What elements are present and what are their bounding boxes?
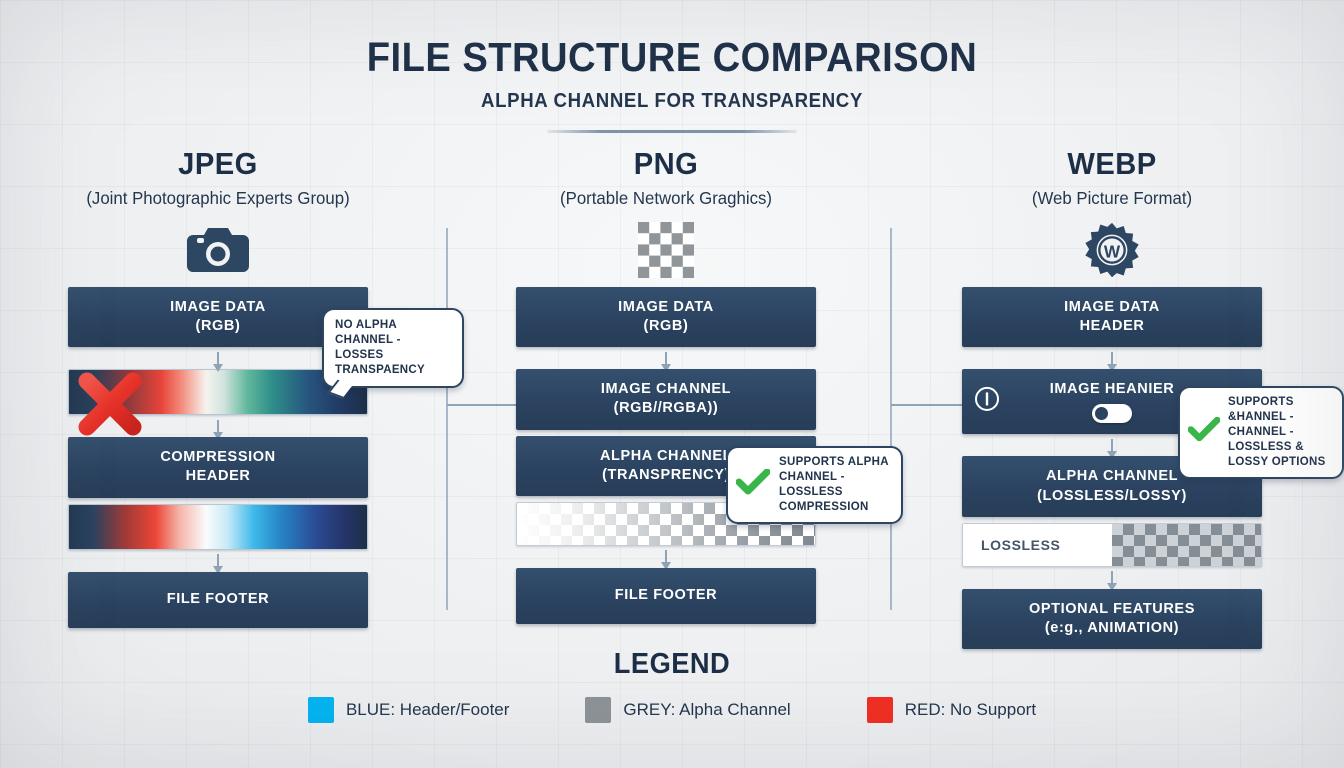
callout-line-1: SUPPORTS ALPHA	[779, 455, 891, 470]
column-title-png: PNG	[525, 146, 807, 182]
header: FILE STRUCTURE COMPARISON ALPHA CHANNEL …	[0, 34, 1344, 133]
callout-line-2: CHANNEL - LOSSLESS &	[1228, 425, 1334, 455]
callout-line-1: NO ALPHA CHANNEL -	[335, 318, 451, 348]
block-line2: (LOSSLESS/LOSSY)	[1037, 487, 1187, 506]
column-divider-png-webp	[890, 228, 892, 610]
title-divider-rule	[547, 130, 797, 133]
legend-label-grey: GREY: Alpha Channel	[623, 700, 790, 720]
block-line1: OPTIONAL FEATURES	[1029, 600, 1195, 619]
column-subtitle-png: (Portable Network Graghics)	[522, 188, 810, 209]
legend-item-grey: GREY: Alpha Channel	[585, 697, 790, 723]
callout-text: SUPPORTS ALPHA CHANNEL - LOSSLESS COMPRE…	[779, 455, 891, 515]
callout-line-3: LOSSY OPTIONS	[1228, 455, 1334, 470]
webp-lossless-label: LOSSLESS	[963, 524, 1112, 566]
legend-title: LEGEND	[40, 648, 1303, 681]
legend-swatch-blue	[308, 697, 334, 723]
legend-item-red: RED: No Support	[867, 697, 1036, 723]
block-line1: ALPHA CHANNEL	[600, 447, 732, 466]
block-webp-image-data-header: IMAGE DATA HEADER	[962, 287, 1262, 347]
toggle-switch[interactable]	[1092, 404, 1132, 423]
red-x-icon	[74, 368, 146, 440]
svg-text:W: W	[1104, 241, 1121, 261]
column-divider-jpeg-png	[446, 228, 448, 610]
callout-line-2: CHANNEL - LOSSLESS	[779, 470, 891, 500]
page-title: FILE STRUCTURE COMPARISON	[47, 34, 1297, 81]
block-png-file-footer: FILE FOOTER	[516, 568, 816, 624]
block-line1: IMAGE CHANNEL	[601, 380, 731, 399]
block-line2: (RGB//RGBA))	[614, 399, 719, 418]
callout-line-1: SUPPORTS &HANNEL -	[1228, 395, 1334, 425]
block-png-image-data: IMAGE DATA (RGB)	[516, 287, 816, 347]
webp-lossless-bar: LOSSLESS	[962, 523, 1262, 567]
block-line2: (TRANSPRENCY)	[602, 466, 730, 485]
legend: LEGEND BLUE: Header/Footer GREY: Alpha C…	[0, 648, 1344, 723]
block-line2: (RGB)	[644, 317, 689, 336]
connector-arrow	[516, 546, 816, 568]
legend-items: BLUE: Header/Footer GREY: Alpha Channel …	[0, 697, 1344, 723]
block-line1: IMAGE HEANIER	[1050, 380, 1175, 399]
block-line1: ALPHA CHANNEL	[1046, 467, 1178, 486]
green-check-icon	[736, 469, 770, 500]
callout-text: SUPPORTS &HANNEL - CHANNEL - LOSSLESS & …	[1228, 395, 1334, 470]
block-line2: (RGB)	[196, 317, 241, 336]
block-line1: IMAGE DATA	[618, 298, 714, 317]
callout-png-supports-alpha: SUPPORTS ALPHA CHANNEL - LOSSLESS COMPRE…	[726, 446, 903, 524]
callout-line-3: COMPRESSION	[779, 500, 891, 515]
info-icon[interactable]	[974, 386, 1000, 418]
legend-item-blue: BLUE: Header/Footer	[308, 697, 509, 723]
block-line1: COMPRESSION	[160, 448, 275, 467]
camera-icon	[68, 219, 368, 281]
column-subtitle-webp: (Web Picture Format)	[968, 188, 1256, 209]
block-jpeg-compression-header: COMPRESSION HEADER	[68, 437, 368, 497]
green-check-icon	[1188, 417, 1220, 447]
column-subtitle-jpeg: (Joint Photographic Experts Group)	[74, 188, 362, 209]
column-title-webp: WEBP	[971, 146, 1253, 182]
checkerboard-icon	[516, 219, 816, 281]
legend-swatch-grey	[585, 697, 611, 723]
block-line2: HEADER	[186, 467, 251, 486]
connector-arrow	[962, 347, 1262, 369]
jpeg-color-gradient-bar-2	[68, 504, 368, 550]
connector-arrow	[962, 567, 1262, 589]
block-jpeg-file-footer: FILE FOOTER	[68, 572, 368, 628]
block-line1: IMAGE DATA	[170, 298, 266, 317]
block-png-image-channel: IMAGE CHANNEL (RGB//RGBA))	[516, 369, 816, 429]
block-line1: IMAGE DATA	[1064, 298, 1160, 317]
callout-jpeg-no-alpha: NO ALPHA CHANNEL - LOSSES TRANSPAENCY	[322, 308, 464, 388]
legend-label-red: RED: No Support	[905, 700, 1036, 720]
column-png: PNG (Portable Network Graghics) IMAGE DA…	[516, 146, 816, 624]
callout-webp-supports-alpha: SUPPORTS &HANNEL - CHANNEL - LOSSLESS & …	[1178, 386, 1344, 479]
page-subtitle: ALPHA CHANNEL FOR TRANSPARENCY	[47, 90, 1297, 113]
callout-line-2: LOSSES	[335, 348, 451, 363]
block-line2: (e:g., ANIMATION)	[1045, 619, 1179, 638]
block-line1: FILE FOOTER	[167, 590, 269, 609]
callout-line-3: TRANSPAENCY	[335, 363, 451, 378]
column-title-jpeg: JPEG	[77, 146, 359, 182]
connector-arrow	[516, 347, 816, 369]
block-line1: FILE FOOTER	[615, 586, 717, 605]
block-line2: HEADER	[1080, 317, 1145, 336]
connector-arrow	[68, 550, 368, 572]
legend-swatch-red	[867, 697, 893, 723]
webp-lossy-checker	[1112, 524, 1261, 566]
gear-w-icon: W	[962, 219, 1262, 281]
legend-label-blue: BLUE: Header/Footer	[346, 700, 509, 720]
block-webp-optional-features: OPTIONAL FEATURES (e:g., ANIMATION)	[962, 589, 1262, 649]
